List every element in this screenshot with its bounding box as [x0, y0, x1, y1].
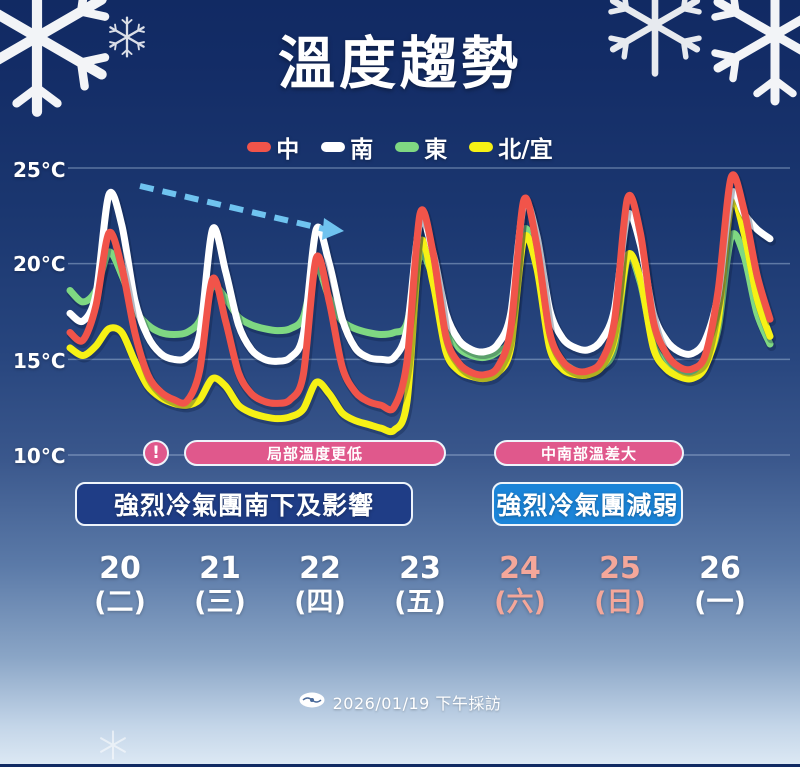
date-label-21: 21(三) — [170, 552, 270, 620]
cwa-logo-icon — [299, 691, 325, 714]
date-weekday: (日) — [570, 586, 670, 620]
date-label-22: 22(四) — [270, 552, 370, 620]
footer: 2026/01/19 下午採訪 — [0, 690, 800, 714]
date-axis: 20(二)21(三)22(四)23(五)24(六)25(日)26(一) — [60, 552, 800, 632]
temperature-chart — [0, 0, 800, 764]
pill-local-lower-temp: 局部溫度更低 — [184, 440, 446, 466]
date-number: 20 — [70, 552, 170, 586]
date-label-20: 20(二) — [70, 552, 170, 620]
box-cold-surge-weakening: 強烈冷氣團減弱 — [492, 482, 683, 526]
chart-series — [70, 175, 772, 434]
date-label-25: 25(日) — [570, 552, 670, 620]
date-weekday: (五) — [370, 586, 470, 620]
pill-central-south-range: 中南部溫差大 — [494, 440, 684, 466]
weather-infographic: 溫度趨勢 中 南 東 北/宜 25°C 20°C 15°C 10°C — [0, 0, 800, 764]
footer-text: 2026/01/19 下午採訪 — [333, 690, 502, 714]
date-number: 26 — [670, 552, 770, 586]
date-number: 24 — [470, 552, 570, 586]
date-number: 22 — [270, 552, 370, 586]
chart-gridlines — [68, 168, 790, 455]
warning-exclamation-icon: ! — [143, 440, 169, 466]
date-number: 25 — [570, 552, 670, 586]
date-number: 21 — [170, 552, 270, 586]
date-weekday: (三) — [170, 586, 270, 620]
date-weekday: (四) — [270, 586, 370, 620]
date-weekday: (二) — [70, 586, 170, 620]
date-weekday: (六) — [470, 586, 570, 620]
exclamation-glyph: ! — [152, 445, 160, 462]
date-label-26: 26(一) — [670, 552, 770, 620]
date-label-24: 24(六) — [470, 552, 570, 620]
date-weekday: (一) — [670, 586, 770, 620]
date-label-23: 23(五) — [370, 552, 470, 620]
box-cold-surge-southward: 強烈冷氣團南下及影響 — [75, 482, 413, 526]
date-number: 23 — [370, 552, 470, 586]
